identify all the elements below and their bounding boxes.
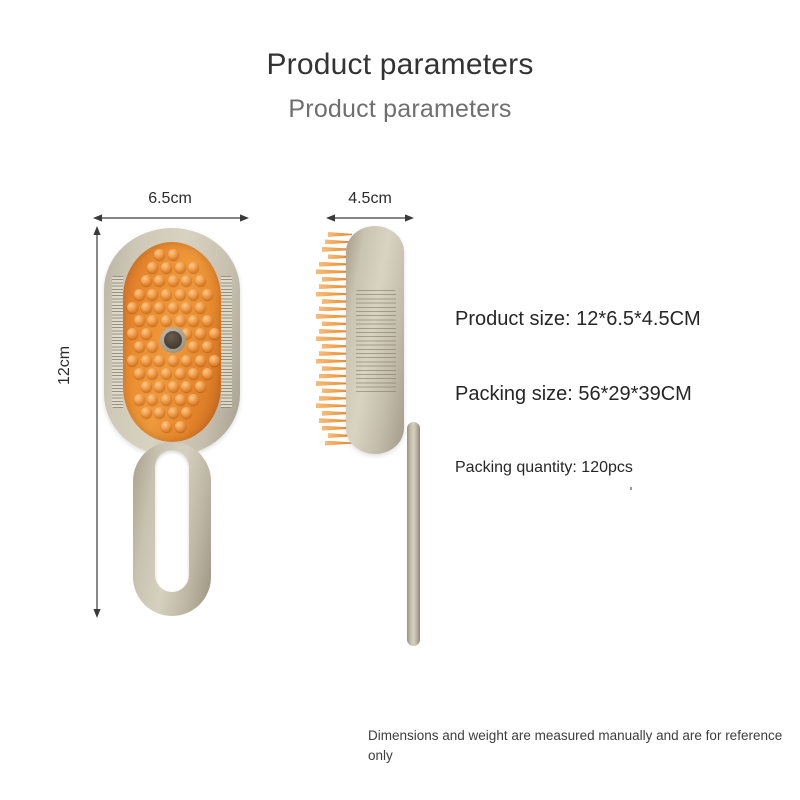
silicone-nub — [175, 421, 186, 432]
silicone-nub — [141, 407, 152, 418]
silicone-nub — [147, 368, 158, 379]
dimension-arrow-front-width — [93, 212, 249, 224]
silicone-nub — [127, 302, 138, 313]
silicone-nub — [188, 315, 199, 326]
silicone-nub — [161, 394, 172, 405]
dimension-arrow-side-width — [326, 212, 414, 224]
silicone-nub — [154, 302, 165, 313]
product-parameters-page: Product parameters Product parameters 6.… — [0, 0, 800, 800]
silicone-nub — [141, 302, 152, 313]
silicone-nub — [188, 262, 199, 273]
silicone-nub — [188, 289, 199, 300]
silicone-nub — [168, 302, 179, 313]
silicone-nub — [147, 341, 158, 352]
silicone-nub — [127, 355, 138, 366]
silicone-nub — [202, 341, 213, 352]
silicone-nub — [134, 315, 145, 326]
center-hole — [164, 331, 182, 349]
silicone-nub — [195, 302, 206, 313]
silicone-nub — [141, 328, 152, 339]
page-title: Product parameters — [0, 48, 800, 82]
dimension-label-front-width: 6.5cm — [95, 190, 245, 208]
silicone-nub — [175, 368, 186, 379]
silicone-nub — [154, 355, 165, 366]
product-side-view — [318, 226, 428, 618]
bristle — [325, 441, 352, 446]
silicone-nub — [161, 421, 172, 432]
silicone-nub — [141, 355, 152, 366]
silicone-nub — [188, 368, 199, 379]
silicone-nub — [168, 275, 179, 286]
silicone-nub — [134, 289, 145, 300]
silicone-nub — [202, 315, 213, 326]
bristle — [328, 232, 352, 237]
silicone-nub — [154, 407, 165, 418]
spec-packing-size: Packing size: 56*29*39CM — [455, 383, 692, 406]
silicone-nub — [188, 394, 199, 405]
silicone-nub — [175, 289, 186, 300]
silicone-nub — [154, 275, 165, 286]
comb-teeth-right — [221, 276, 232, 408]
silicone-nub — [181, 302, 192, 313]
silicone-nub — [181, 275, 192, 286]
silicone-nub — [181, 355, 192, 366]
comb-teeth-left — [112, 276, 123, 408]
silicone-nub — [134, 341, 145, 352]
handle-loop-opening — [155, 450, 189, 592]
silicone-nub — [134, 394, 145, 405]
silicone-nub — [195, 381, 206, 392]
silicone-nub — [168, 381, 179, 392]
dimension-arrow-front-height — [91, 226, 103, 618]
silicone-nub — [134, 368, 145, 379]
silicone-nub — [175, 262, 186, 273]
silicone-nub — [154, 249, 165, 260]
spec-product-size: Product size: 12*6.5*4.5CM — [455, 308, 701, 331]
silicone-nub — [168, 249, 179, 260]
side-handle-bar — [407, 422, 420, 646]
silicone-nub — [161, 289, 172, 300]
silicone-nub — [209, 328, 220, 339]
silicone-nub — [147, 289, 158, 300]
silicone-nub — [161, 315, 172, 326]
silicone-nub — [202, 289, 213, 300]
dimension-label-front-height: 12cm — [56, 346, 74, 385]
silicone-nub — [127, 328, 138, 339]
side-groove-lines — [356, 290, 396, 394]
silicone-nub — [202, 368, 213, 379]
spec-packing-quantity: Packing quantity: 120pcs — [455, 459, 633, 477]
silicone-nub — [168, 407, 179, 418]
silicone-nub — [175, 394, 186, 405]
page-subtitle: Product parameters — [0, 95, 800, 124]
silicone-nub — [161, 368, 172, 379]
silicone-nub — [195, 328, 206, 339]
silicone-nub — [188, 341, 199, 352]
silicone-nub — [181, 407, 192, 418]
silicone-nub — [175, 315, 186, 326]
artifact-dot — [630, 487, 632, 490]
silicone-nub — [195, 275, 206, 286]
product-front-view — [104, 228, 240, 616]
silicone-nub — [147, 394, 158, 405]
dimension-label-side-width: 4.5cm — [328, 190, 412, 208]
silicone-nub — [168, 355, 179, 366]
silicone-nub — [195, 355, 206, 366]
silicone-nub — [181, 381, 192, 392]
silicone-nub — [141, 275, 152, 286]
silicone-nub — [209, 355, 220, 366]
disclaimer-text: Dimensions and weight are measured manua… — [368, 726, 788, 765]
silicone-nub — [147, 262, 158, 273]
silicone-nub — [161, 262, 172, 273]
silicone-nub — [147, 315, 158, 326]
silicone-nub — [154, 381, 165, 392]
silicone-nub — [141, 381, 152, 392]
